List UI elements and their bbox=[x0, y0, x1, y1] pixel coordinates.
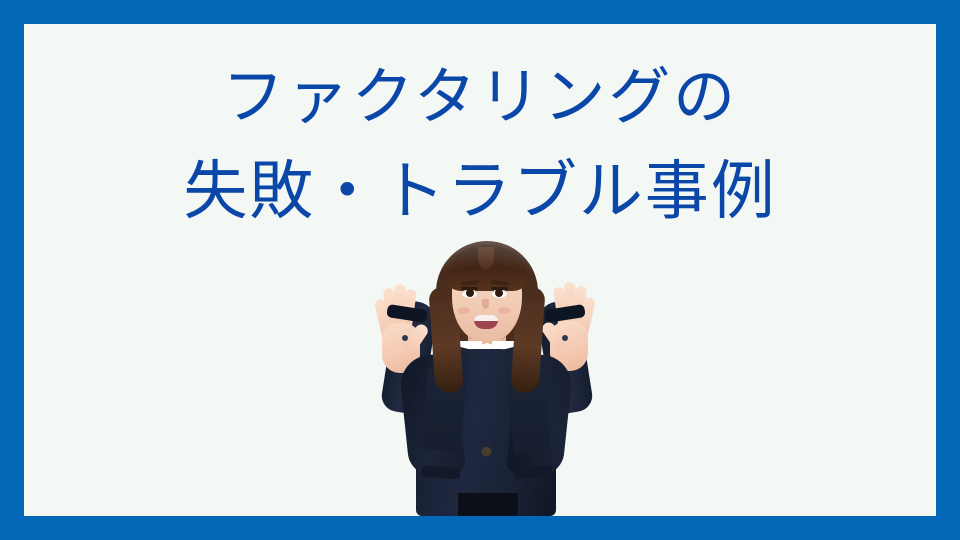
hair-part bbox=[478, 247, 494, 269]
eyelid-right bbox=[491, 287, 508, 290]
skirt bbox=[458, 493, 518, 516]
title-line-2: 失敗・トラブル事例 bbox=[24, 144, 936, 241]
cheek-right bbox=[498, 307, 511, 314]
eyelid-left bbox=[461, 287, 478, 290]
businesswoman-photo bbox=[358, 231, 614, 516]
slide-canvas: ファクタリングの 失敗・トラブル事例 bbox=[0, 0, 960, 540]
cheek-left bbox=[457, 307, 470, 314]
slide-inner-card: ファクタリングの 失敗・トラブル事例 bbox=[24, 24, 936, 516]
open-mouth bbox=[474, 315, 498, 329]
page-title: ファクタリングの 失敗・トラブル事例 bbox=[24, 50, 936, 242]
pupil-right bbox=[495, 289, 503, 297]
teeth bbox=[474, 315, 498, 321]
nose bbox=[482, 299, 489, 309]
title-line-1: ファクタリングの bbox=[24, 50, 936, 144]
pupil-left bbox=[466, 289, 474, 297]
cuff-button bbox=[402, 335, 408, 341]
jacket-button bbox=[482, 447, 491, 456]
cuff-button bbox=[562, 335, 568, 341]
